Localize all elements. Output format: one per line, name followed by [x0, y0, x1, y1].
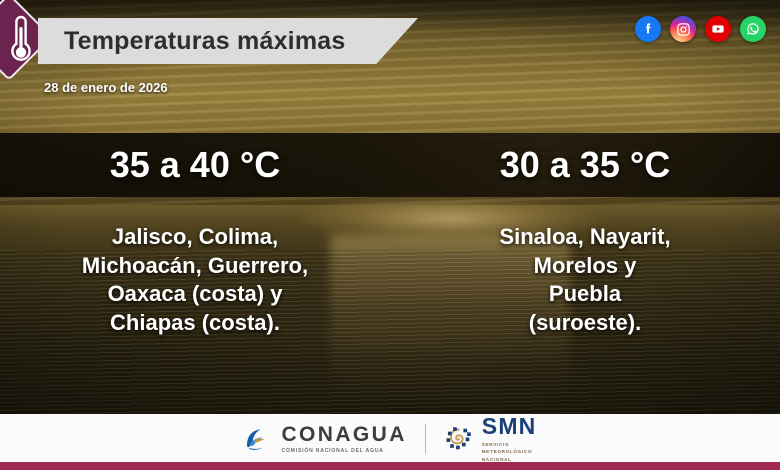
whatsapp-icon[interactable] — [740, 16, 766, 42]
forecast-columns: 35 a 40 °C Jalisco, Colima,Michoacán, Gu… — [0, 133, 780, 413]
smn-logo: SMN SERVICIOMETEOROLÓGICONACIONAL — [444, 415, 537, 462]
forecast-column-right: 30 a 35 °C Sinaloa, Nayarit,Morelos yPue… — [390, 133, 780, 413]
forecast-date: 28 de enero de 2026 — [44, 80, 168, 95]
states-list-right: Sinaloa, Nayarit,Morelos yPuebla(suroest… — [485, 223, 684, 337]
smn-name: SMN — [482, 415, 537, 438]
smn-subtitle: SERVICIOMETEOROLÓGICONACIONAL — [482, 441, 537, 462]
whatsapp-glyph — [745, 21, 761, 37]
forecast-column-left: 35 a 40 °C Jalisco, Colima,Michoacán, Gu… — [0, 133, 390, 413]
conagua-subtitle: COMISIÓN NACIONAL DEL AGUA — [281, 448, 406, 454]
social-links — [635, 16, 766, 42]
instagram-glyph — [676, 22, 691, 37]
conagua-logo: CONAGUA COMISIÓN NACIONAL DEL AGUA — [243, 424, 406, 454]
title-banner: Temperaturas máximas — [38, 18, 418, 64]
page-title: Temperaturas máximas — [64, 27, 345, 56]
weather-infographic: Temperaturas máximas 28 de enero de 2026 — [0, 0, 780, 470]
smn-wordmark: SMN SERVICIOMETEOROLÓGICONACIONAL — [482, 415, 537, 462]
facebook-glyph — [640, 21, 656, 37]
conagua-wordmark: CONAGUA COMISIÓN NACIONAL DEL AGUA — [281, 424, 406, 454]
conagua-emblem-icon — [243, 424, 273, 454]
conagua-name: CONAGUA — [281, 424, 406, 445]
temperature-range-left: 35 a 40 °C — [110, 133, 281, 197]
smn-emblem-icon — [444, 425, 474, 453]
facebook-icon[interactable] — [635, 16, 661, 42]
thermometer-icon — [8, 13, 34, 63]
footer-divider — [425, 424, 426, 454]
states-list-left: Jalisco, Colima,Michoacán, Guerrero,Oaxa… — [68, 223, 322, 337]
temperature-range-right: 30 a 35 °C — [500, 133, 671, 197]
footer-logos: CONAGUA COMISIÓN NACIONAL DEL AGUA SMN — [0, 414, 780, 470]
youtube-glyph — [710, 21, 726, 37]
instagram-icon[interactable] — [670, 16, 696, 42]
youtube-icon[interactable] — [705, 16, 731, 42]
